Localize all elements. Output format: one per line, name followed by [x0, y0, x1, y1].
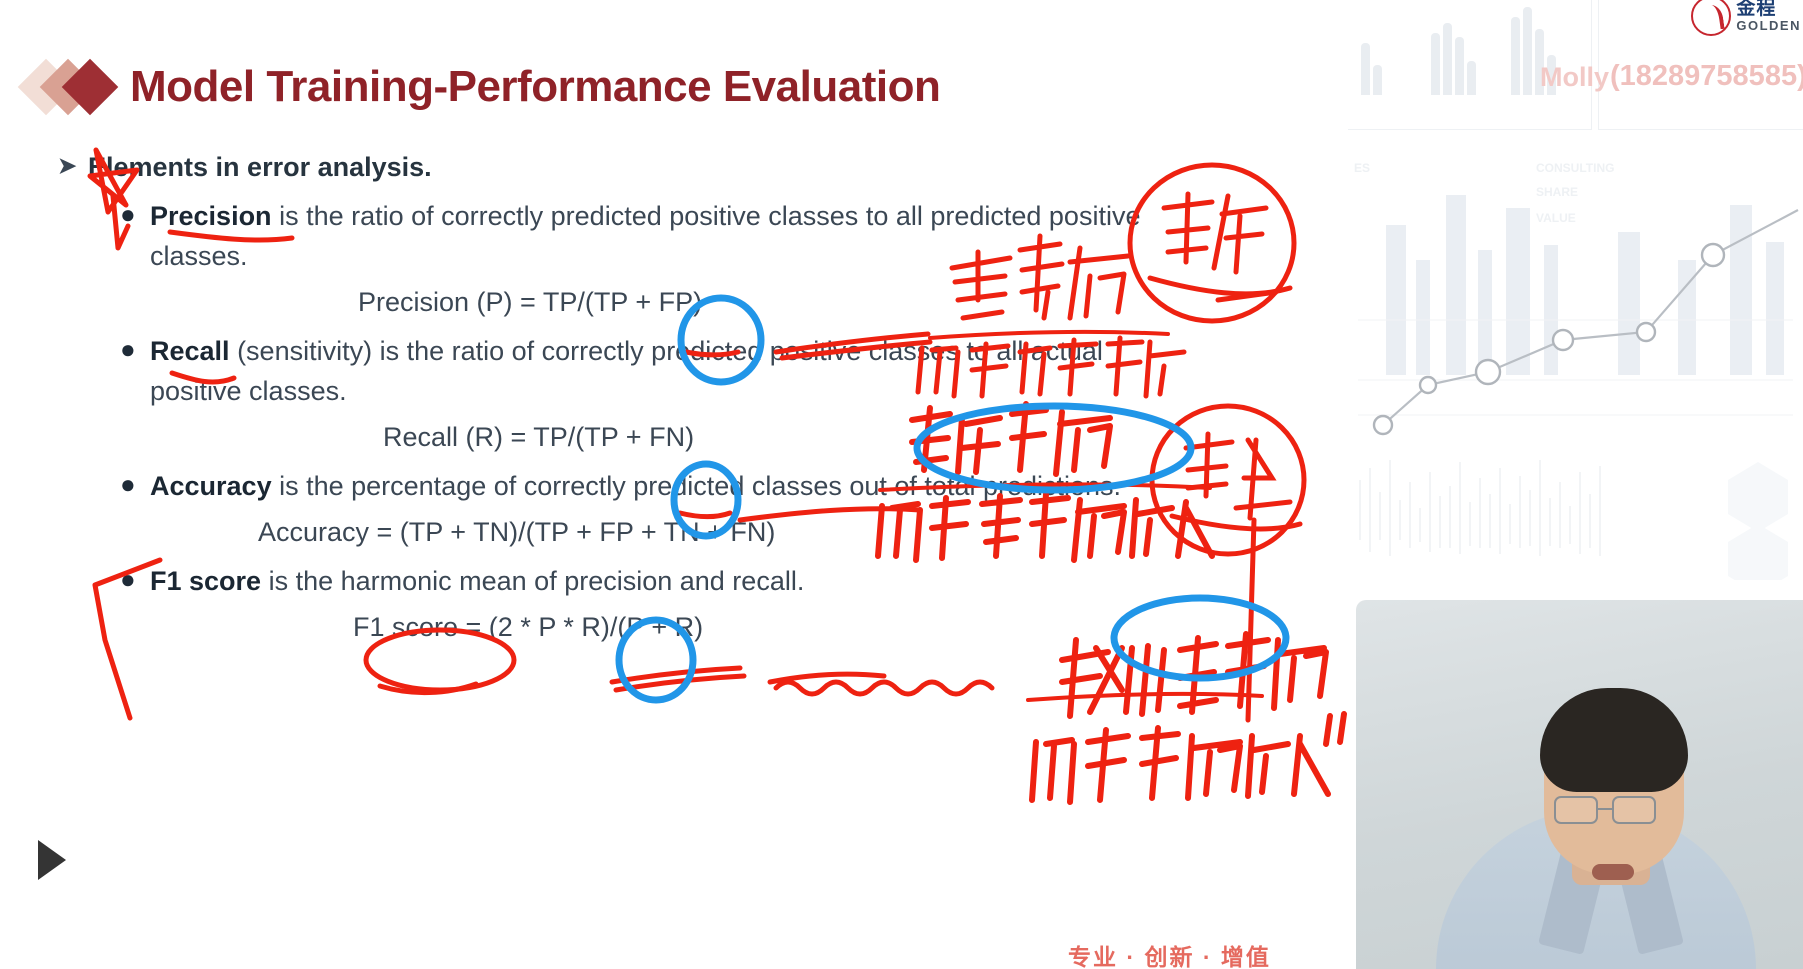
screen-root: Model Training-Performance Evaluation ➤ … [0, 0, 1803, 969]
round-bullet-icon: ● [120, 562, 150, 597]
formula-accuracy: Accuracy = (TP + TN)/(TP + FP + TN + FN) [258, 517, 1288, 548]
right-side-panel: Molly (18289758585) 金程 GOLDEN [1348, 0, 1803, 969]
slide-body: ➤ Elements in error analysis. ● Precisio… [58, 152, 1288, 643]
accuracy-text: Accuracy is the percentage of correctly … [150, 467, 1121, 507]
footer-tagline: 专业 · 创新 · 增值 [1068, 938, 1271, 969]
formula-precision: Precision (P) = TP/(TP + FP) [358, 287, 1288, 318]
precision-text: Precision is the ratio of correctly pred… [150, 197, 1160, 277]
round-bullet-icon: ● [120, 197, 150, 232]
presenter-figure [1356, 600, 1803, 969]
round-bullet-icon: ● [120, 332, 150, 367]
brand-logo: 金程 GOLDEN [1691, 0, 1801, 36]
play-triangle-icon[interactable] [38, 840, 66, 880]
precision-rest: is the ratio of correctly predicted posi… [150, 201, 1140, 271]
round-bullet-icon: ● [120, 467, 150, 502]
f1-rest: is the harmonic mean of precision and re… [261, 566, 804, 596]
seal-icon [1691, 0, 1731, 36]
logo-cn-text: 金程 [1736, 0, 1801, 18]
f1-text: F1 score is the harmonic mean of precisi… [150, 562, 804, 602]
heading-label: Elements in error analysis. [88, 152, 432, 183]
page-title: Model Training-Performance Evaluation [130, 62, 940, 112]
presenter-video[interactable] [1356, 600, 1803, 969]
formula-recall: Recall (R) = TP/(TP + FN) [383, 422, 1288, 453]
list-item-recall: ● Recall (sensitivity) is the ratio of c… [120, 332, 1288, 412]
diamond-bullet-icon [24, 58, 116, 116]
svg-text:ES: ES [1354, 161, 1370, 175]
precision-term: Precision [150, 201, 272, 231]
recall-term: Recall [150, 336, 230, 366]
watermark-name: Molly [1540, 62, 1609, 93]
faded-dashboard-chart: ES CONSULTING SHARE VALUE [1348, 150, 1803, 580]
logo-en-text: GOLDEN [1736, 18, 1801, 34]
accuracy-rest: is the percentage of correctly predicted… [272, 471, 1121, 501]
svg-text:CONSULTING: CONSULTING [1536, 161, 1614, 175]
svg-text:SHARE: SHARE [1536, 185, 1578, 199]
slide-canvas[interactable]: Model Training-Performance Evaluation ➤ … [0, 0, 1348, 969]
watermark-phone: (18289758585) [1610, 60, 1803, 93]
list-item-f1-score: ● F1 score is the harmonic mean of preci… [120, 562, 1288, 602]
list-item-accuracy: ● Accuracy is the percentage of correctl… [120, 467, 1288, 507]
svg-text:VALUE: VALUE [1536, 211, 1576, 225]
slide-title-row: Model Training-Performance Evaluation [24, 58, 940, 116]
recall-rest: (sensitivity) is the ratio of correctly … [150, 336, 1103, 406]
arrow-bullet-icon: ➤ [58, 152, 88, 181]
accuracy-term: Accuracy [150, 471, 272, 501]
formula-f1-score: F1 score = (2 * P * R)/(P + R) [353, 612, 1288, 643]
recall-text: Recall (sensitivity) is the ratio of cor… [150, 332, 1160, 412]
f1-term: F1 score [150, 566, 261, 596]
heading-elements-in-error-analysis: ➤ Elements in error analysis. [58, 152, 1288, 183]
list-item-precision: ● Precision is the ratio of correctly pr… [120, 197, 1288, 277]
